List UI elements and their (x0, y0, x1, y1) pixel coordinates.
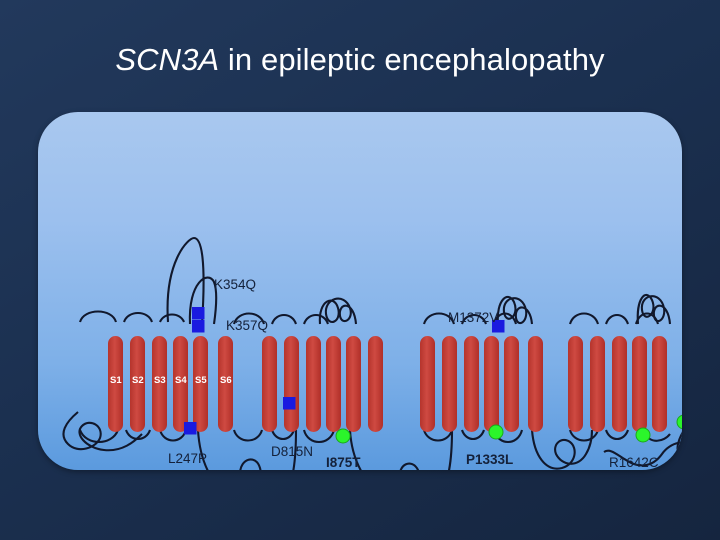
mutation-label-i875t: I875T (326, 455, 361, 470)
segment-label-s1: S1 (110, 375, 122, 386)
mutation-label-l247p: L247P (168, 451, 207, 466)
mutation-label-k354q: K354Q (214, 277, 256, 292)
mutation-label-m1372v: M1372V (448, 310, 498, 325)
gene-name: SCN3A (115, 42, 219, 77)
marker-square-d815n (283, 397, 296, 410)
title-rest: in epileptic encephalopathy (219, 42, 604, 77)
marker-square-k357q (192, 320, 205, 333)
marker-square-k354q (192, 307, 205, 320)
mutation-label-k357q: K357Q (226, 318, 268, 333)
slide-background: SCN3A in epileptic encephalopathy (0, 0, 720, 540)
mutation-label-r1642c: R1642C (609, 455, 659, 470)
marker-circle-i875t (336, 429, 350, 443)
segment-label-s5: S5 (195, 375, 207, 386)
transmembrane-helices (108, 336, 667, 432)
topology-stage: S1S2S3S4S5S6 K354QK357QL247PD815NI875TR6… (38, 112, 682, 470)
mutation-label-p1333l: P1333L (466, 452, 513, 467)
segment-label-s3: S3 (154, 375, 166, 386)
marker-circle-v1769a (677, 415, 682, 429)
marker-circle-p1333l (489, 425, 503, 439)
marker-circle-r1642c (636, 428, 650, 442)
segment-label-s6: S6 (220, 375, 232, 386)
mutation-label-d815n: D815N (271, 444, 313, 459)
marker-square-l247p (184, 422, 197, 435)
segment-label-s4: S4 (175, 375, 187, 386)
membrane-topology-panel: S1S2S3S4S5S6 K354QK357QL247PD815NI875TR6… (38, 112, 682, 470)
page-title: SCN3A in epileptic encephalopathy (0, 42, 720, 78)
segment-label-s2: S2 (132, 375, 144, 386)
channel-topology-svg (38, 112, 682, 470)
